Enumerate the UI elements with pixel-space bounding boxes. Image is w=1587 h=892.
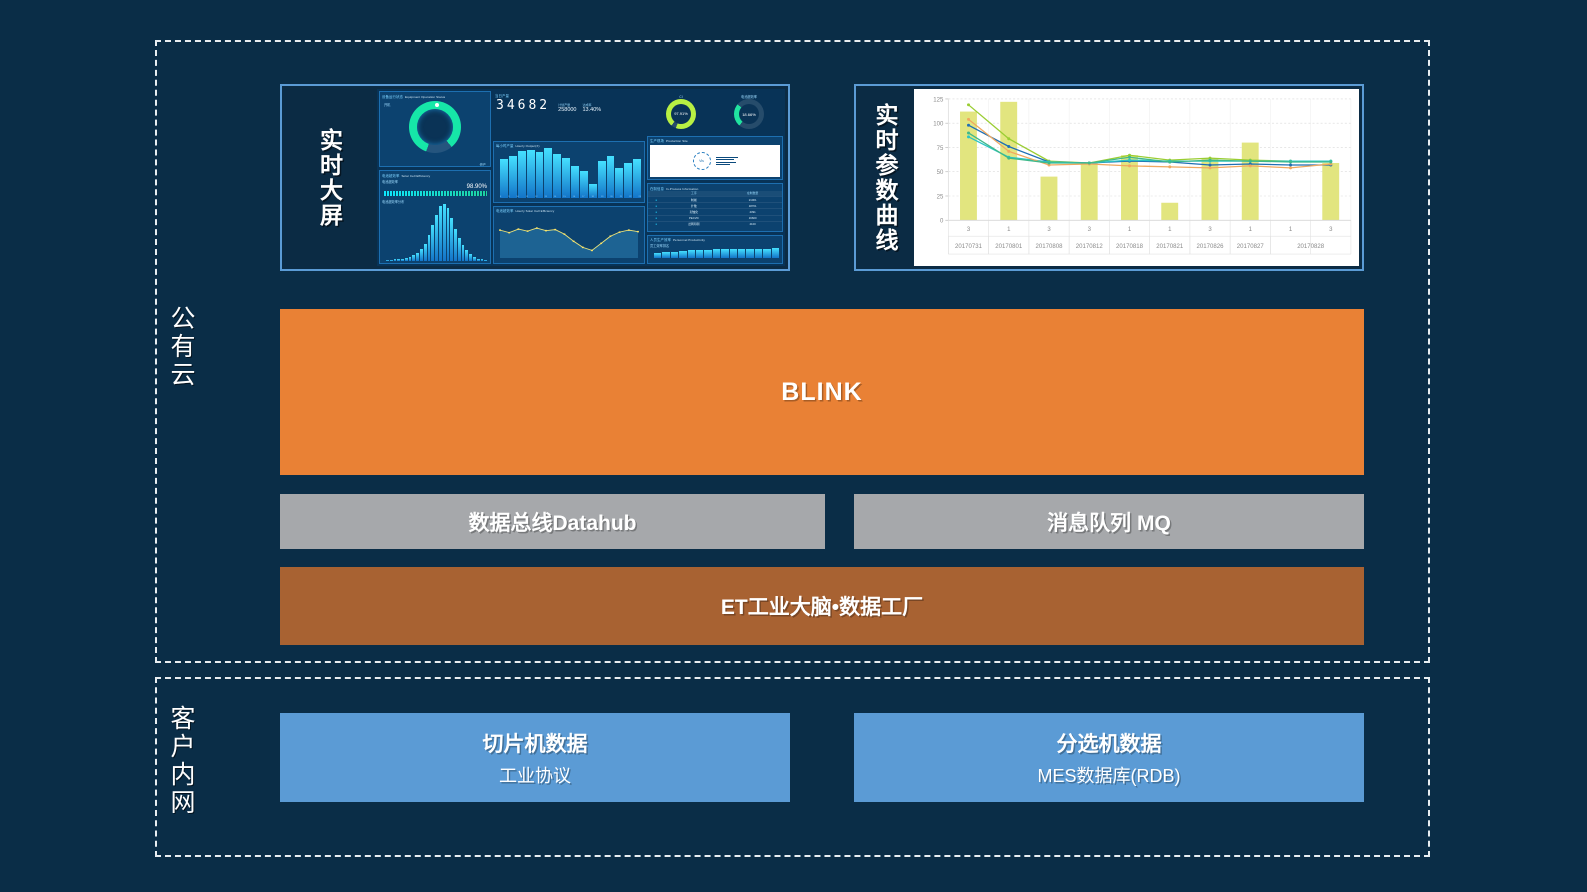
mini-plan-output: 计划产量 258000 bbox=[558, 103, 576, 113]
label-en: Equipment Operation Status bbox=[405, 95, 445, 99]
bar bbox=[500, 159, 508, 198]
mini-gauge-ci: CI 97.91% bbox=[666, 95, 696, 129]
parameter-curve-svg: 0255075100125313311311320170731201708012… bbox=[914, 89, 1359, 266]
chart-point bbox=[1168, 160, 1171, 163]
bar bbox=[688, 250, 695, 257]
table-cell: 4100 bbox=[723, 221, 782, 227]
bar bbox=[536, 152, 544, 198]
mini-efficiency-value: 98.90% bbox=[380, 184, 490, 190]
mini-panel-production-site: 生产现场Production Site Vis bbox=[647, 136, 783, 181]
bar bbox=[424, 244, 427, 261]
svg-text:3: 3 bbox=[1329, 227, 1333, 233]
mini-dashboard-column-middle: 当日产量 34682 计划产量 258000 达成率 13.40% bbox=[493, 91, 645, 264]
tick: 12 bbox=[535, 196, 537, 199]
band-blink: BLINK bbox=[280, 309, 1364, 475]
bar bbox=[465, 250, 468, 260]
panel-realtime-parameter-curve: 实时参数曲线 025507510012531331131132017073120… bbox=[854, 84, 1364, 271]
bar bbox=[397, 259, 400, 260]
mini-personnel-chart bbox=[648, 248, 782, 263]
bar bbox=[615, 168, 623, 199]
chart-point bbox=[1289, 163, 1292, 166]
panel-realtime-bigscreen: 实时大屏 设备运行状态Equipment Operation Status 开机… bbox=[280, 84, 790, 271]
bar bbox=[571, 166, 579, 199]
mini-efficiency-progressbar bbox=[383, 191, 487, 196]
tick: 15 bbox=[563, 196, 565, 199]
svg-text:3: 3 bbox=[967, 227, 971, 233]
chart-point bbox=[1007, 157, 1010, 160]
bar bbox=[746, 249, 753, 258]
bar bbox=[386, 260, 389, 261]
chart-point bbox=[1007, 137, 1010, 140]
bar bbox=[662, 252, 669, 257]
svg-text:3: 3 bbox=[1047, 227, 1051, 233]
svg-text:100: 100 bbox=[933, 122, 944, 128]
tick: 23 bbox=[639, 196, 641, 199]
svg-text:1: 1 bbox=[1128, 227, 1132, 233]
svg-text:1: 1 bbox=[1007, 227, 1011, 233]
bar bbox=[671, 252, 678, 258]
svg-text:1: 1 bbox=[1289, 227, 1293, 233]
mini-panel-daily-output: 当日产量 34682 计划产量 258000 达成率 13.40% bbox=[493, 91, 645, 138]
tick: 17 bbox=[582, 196, 584, 199]
bar bbox=[401, 259, 404, 261]
chart-point bbox=[1209, 163, 1212, 166]
bar bbox=[431, 225, 434, 260]
chart-point bbox=[1289, 166, 1292, 169]
band-message-queue: 消息队列 MQ bbox=[854, 494, 1364, 549]
svg-text:3: 3 bbox=[1088, 227, 1092, 233]
tick: 13 bbox=[544, 196, 546, 199]
bar bbox=[654, 253, 661, 258]
chart-bar bbox=[1041, 177, 1058, 221]
gauge-equipment-donut bbox=[409, 101, 461, 153]
mini-achieve-rate: 达成率 13.40% bbox=[583, 103, 602, 113]
band-slicer-data-subtitle: 工业协议 bbox=[499, 762, 571, 788]
chart-point bbox=[967, 135, 970, 138]
mini-panel-hourly-output: 每小时产量Hourly Output(X) 891011121314151617… bbox=[493, 141, 645, 203]
band-et-industrial-brain-label: ET工业大脑•数据工厂 bbox=[721, 591, 923, 621]
bar bbox=[477, 259, 480, 261]
tick: 10 bbox=[516, 196, 518, 199]
tick: 22 bbox=[629, 196, 631, 199]
svg-text:3: 3 bbox=[1208, 227, 1212, 233]
bar bbox=[704, 250, 711, 258]
svg-text:20170731: 20170731 bbox=[955, 244, 983, 250]
legend-running: 开机 bbox=[382, 101, 392, 107]
bar bbox=[772, 248, 779, 257]
mini-panel-equipment-status-header: 设备运行状态Equipment Operation Status bbox=[380, 92, 490, 99]
label-en: Production Site bbox=[666, 139, 688, 143]
bar bbox=[580, 171, 588, 198]
svg-text:1: 1 bbox=[1168, 227, 1172, 233]
band-slicer-data: 切片机数据 工业协议 bbox=[280, 713, 790, 802]
mini-efficiency-histogram bbox=[380, 204, 490, 264]
bar bbox=[390, 260, 393, 261]
mini-hourly-efficiency-chart bbox=[494, 213, 644, 263]
mini-gauge-ci-value: 97.91% bbox=[666, 99, 696, 129]
bar bbox=[447, 208, 450, 260]
mini-production-site-image: Vis bbox=[650, 145, 780, 177]
chart-point bbox=[967, 118, 970, 121]
bar bbox=[481, 259, 484, 260]
bar bbox=[696, 250, 703, 258]
bar bbox=[416, 253, 419, 260]
bar bbox=[412, 255, 415, 260]
chart-point bbox=[1128, 156, 1131, 159]
tick: 16 bbox=[573, 196, 575, 199]
label-cn: 在制信息 bbox=[650, 187, 664, 191]
band-slicer-data-title: 切片机数据 bbox=[483, 728, 588, 758]
diagram-canvas: 公有云 实时大屏 设备运行状态Equipment Operation Statu… bbox=[0, 0, 1587, 892]
bar bbox=[607, 156, 615, 198]
mini-gauge-eff-ring: 18.66% bbox=[734, 99, 764, 129]
svg-text:20170826: 20170826 bbox=[1197, 244, 1225, 250]
chart-bar bbox=[1000, 102, 1017, 220]
panel-realtime-bigscreen-title: 实时大屏 bbox=[282, 86, 377, 269]
svg-text:20170801: 20170801 bbox=[995, 244, 1023, 250]
band-blink-label: BLINK bbox=[781, 378, 862, 407]
bar bbox=[405, 258, 408, 260]
label-cn: 人员生产效率 bbox=[650, 238, 671, 242]
tick: 9 bbox=[508, 196, 509, 199]
bar bbox=[473, 257, 476, 260]
bar bbox=[435, 215, 438, 261]
bar bbox=[428, 235, 431, 261]
mini-daily-output-value: 34682 bbox=[493, 98, 550, 113]
svg-text:125: 125 bbox=[933, 97, 944, 103]
svg-text:25: 25 bbox=[937, 194, 944, 200]
band-sorter-data: 分选机数据 MES数据库(RDB) bbox=[854, 713, 1364, 802]
chart-point bbox=[1209, 159, 1212, 162]
bar bbox=[633, 159, 641, 198]
chart-point bbox=[1048, 161, 1051, 164]
zone-customer-intranet-label: 客户内网 bbox=[167, 705, 194, 817]
label-cn: 设备运行状态 bbox=[382, 95, 403, 99]
band-sorter-data-subtitle: MES数据库(RDB) bbox=[1038, 762, 1181, 788]
bar bbox=[679, 251, 686, 258]
mini-dashboard-column-left: 设备运行状态Equipment Operation Status 开机 停产 电… bbox=[379, 91, 491, 264]
label-cn: 电池超效率 bbox=[382, 174, 399, 178]
table-row: 丝网印刷4100 bbox=[648, 221, 782, 227]
chart-point bbox=[1249, 164, 1252, 167]
bar bbox=[624, 163, 632, 198]
bar bbox=[518, 151, 526, 199]
chart-point bbox=[967, 131, 970, 134]
tick: 11 bbox=[526, 196, 528, 199]
mini-wip-table: 工序在制数量制绒21001扩散18701刻蚀化4391PECVD16600丝网印… bbox=[648, 191, 782, 227]
parameter-curve-chart: 0255075100125313311311320170731201708012… bbox=[914, 89, 1359, 266]
mini-panel-personnel-productivity: 人员生产效率Personnel Productivity 员工效率排名 bbox=[647, 235, 783, 264]
chart-bar bbox=[1322, 163, 1339, 220]
mini-dashboard: 设备运行状态Equipment Operation Status 开机 停产 电… bbox=[377, 89, 785, 266]
mini-panel-gauges: CI 97.91% 电池超效率 18.66% bbox=[647, 91, 783, 133]
bar bbox=[469, 254, 472, 260]
mini-panel-cell-efficiency: 电池超效率Solar Cell Efficiency 电池超效率 98.90% … bbox=[379, 170, 491, 264]
tick: 20 bbox=[610, 196, 612, 199]
tick: 21 bbox=[620, 196, 622, 199]
mini-plan-output-value: 258000 bbox=[558, 107, 576, 113]
mini-hourly-output-chart: 891011121314151617181920212223 bbox=[494, 148, 644, 202]
bar bbox=[420, 249, 423, 260]
bar bbox=[450, 218, 453, 260]
band-datahub-label: 数据总线Datahub bbox=[469, 507, 637, 537]
bar bbox=[458, 238, 461, 261]
mini-panel-hourly-efficiency: 电池超效率Hourly Solar Cell Efficiency bbox=[493, 206, 645, 264]
band-datahub: 数据总线Datahub bbox=[280, 494, 825, 549]
svg-text:20170827: 20170827 bbox=[1237, 244, 1265, 250]
chart-bar bbox=[1242, 143, 1259, 221]
mini-gauge-eff: 电池超效率 18.66% bbox=[734, 94, 764, 129]
tick: 14 bbox=[554, 196, 556, 199]
mini-gauge-eff-value: 18.66% bbox=[734, 99, 764, 129]
chart-point bbox=[1128, 164, 1131, 167]
bar bbox=[409, 257, 412, 260]
chart-bar bbox=[1161, 203, 1178, 221]
bar bbox=[544, 148, 552, 198]
gauge-marker-icon bbox=[435, 103, 439, 107]
bar bbox=[598, 161, 606, 198]
chart-bar bbox=[1081, 163, 1098, 220]
svg-text:75: 75 bbox=[937, 146, 944, 152]
bar bbox=[730, 249, 737, 258]
svg-text:0: 0 bbox=[940, 219, 944, 225]
bar bbox=[721, 249, 728, 257]
bar bbox=[439, 206, 442, 261]
table-cell-marker bbox=[648, 221, 664, 227]
mini-panel-production-site-header: 生产现场Production Site bbox=[648, 137, 782, 144]
mini-achieve-rate-value: 13.40% bbox=[583, 107, 602, 113]
chart-point bbox=[1088, 161, 1091, 164]
mini-panel-equipment-status: 设备运行状态Equipment Operation Status 开机 停产 bbox=[379, 91, 491, 167]
bar bbox=[553, 154, 561, 199]
table-cell: 丝网印刷 bbox=[664, 221, 723, 227]
panel-realtime-parameter-curve-title: 实时参数曲线 bbox=[856, 86, 914, 269]
label-en: Solar Cell Efficiency bbox=[401, 174, 430, 178]
bar bbox=[454, 229, 457, 261]
tick: 19 bbox=[601, 196, 603, 199]
mini-dashboard-column-right: CI 97.91% 电池超效率 18.66% 生产现场Production Si… bbox=[647, 91, 783, 264]
bar bbox=[755, 249, 762, 258]
mini-panel-wip-information: 在制信息In-Process Information 工序在制数量制绒21001… bbox=[647, 183, 783, 231]
svg-text:20170812: 20170812 bbox=[1076, 244, 1104, 250]
bar bbox=[562, 158, 570, 199]
chart-point bbox=[1329, 160, 1332, 163]
svg-text:20170808: 20170808 bbox=[1036, 244, 1064, 250]
chart-point bbox=[967, 124, 970, 127]
bar bbox=[509, 156, 517, 198]
bar bbox=[763, 249, 770, 258]
chart-point bbox=[1007, 150, 1010, 153]
bar bbox=[527, 150, 535, 199]
chart-point bbox=[1249, 160, 1252, 163]
band-message-queue-label: 消息队列 MQ bbox=[1047, 507, 1171, 537]
svg-text:1: 1 bbox=[1249, 227, 1253, 233]
band-et-industrial-brain: ET工业大脑•数据工厂 bbox=[280, 567, 1364, 645]
company-logo-icon: Vis bbox=[693, 152, 711, 170]
chart-point bbox=[1128, 159, 1131, 162]
chart-point bbox=[1007, 145, 1010, 148]
chart-point bbox=[967, 103, 970, 106]
mini-gauge-ci-ring: 97.91% bbox=[666, 99, 696, 129]
svg-text:20170818: 20170818 bbox=[1116, 244, 1144, 250]
mini-hourly-output-xaxis: 891011121314151617181920212223 bbox=[500, 196, 641, 199]
svg-text:20170821: 20170821 bbox=[1156, 244, 1184, 250]
label-cn: 生产现场 bbox=[650, 139, 664, 143]
bar bbox=[484, 260, 487, 261]
legend-stopped: 停产 bbox=[478, 161, 488, 167]
label-en: In-Process Information bbox=[666, 187, 698, 191]
site-text-placeholder bbox=[716, 157, 738, 165]
chart-point bbox=[1209, 166, 1212, 169]
tick: 18 bbox=[591, 196, 593, 199]
bar bbox=[462, 245, 465, 261]
band-sorter-data-title: 分选机数据 bbox=[1057, 728, 1162, 758]
svg-text:50: 50 bbox=[937, 170, 944, 176]
label-en: Personnel Productivity bbox=[673, 238, 705, 242]
chart-point bbox=[1289, 160, 1292, 163]
bar bbox=[443, 204, 446, 261]
zone-public-cloud-label: 公有云 bbox=[167, 305, 194, 389]
tick: 8 bbox=[500, 196, 501, 199]
bar bbox=[738, 249, 745, 258]
bar bbox=[713, 249, 720, 257]
chart-point bbox=[1168, 165, 1171, 168]
mini-hourly-efficiency-svg bbox=[494, 213, 644, 263]
bar bbox=[394, 259, 397, 260]
svg-text:20170828: 20170828 bbox=[1297, 244, 1325, 250]
